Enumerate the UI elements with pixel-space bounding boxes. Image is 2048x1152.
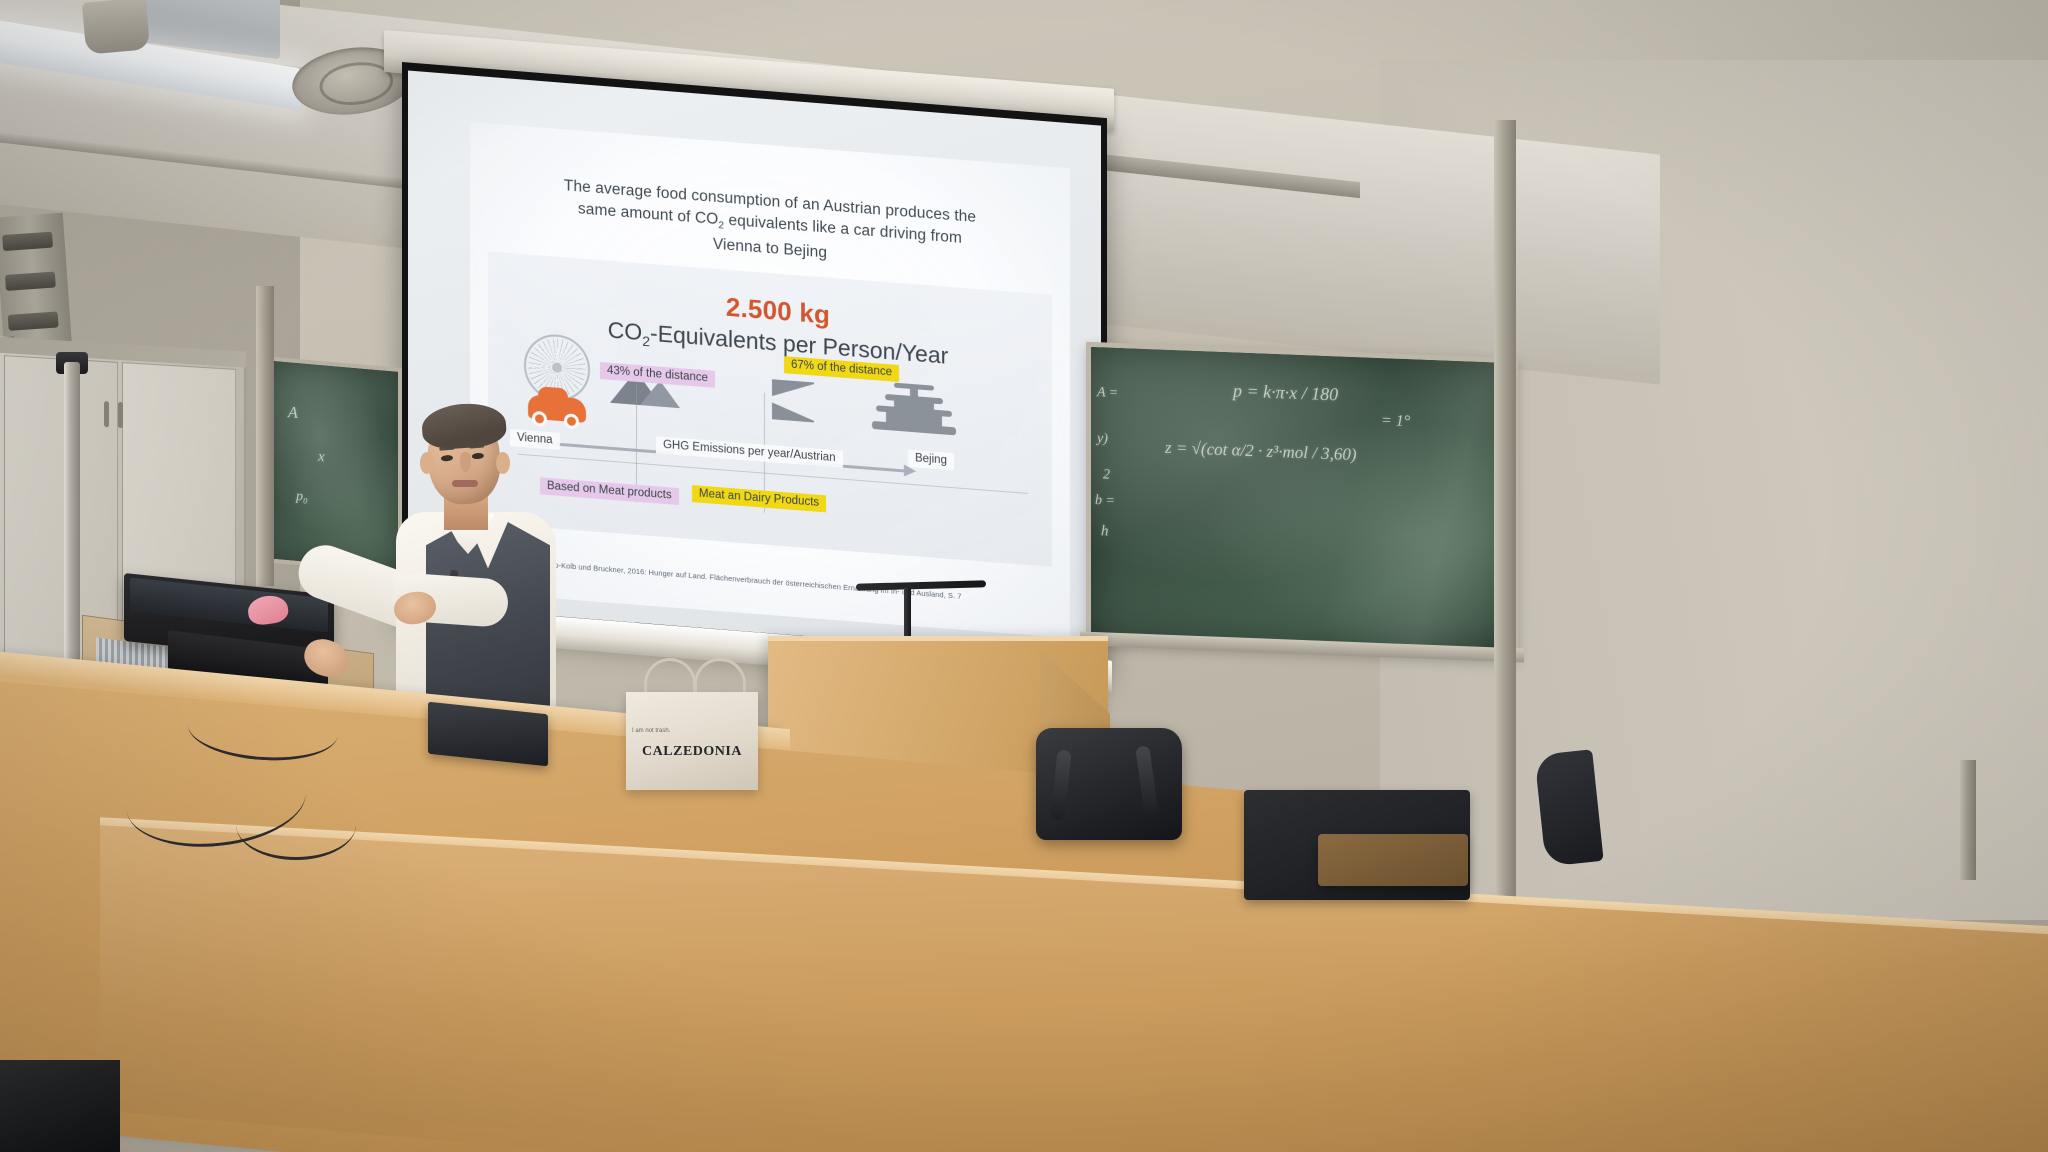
shopping-bag: I am not trash. CALZEDONIA: [626, 692, 758, 790]
blackboard-right-post: [1494, 120, 1516, 900]
chalk-note-right-5: h: [1101, 523, 1109, 540]
presenter-nose: [460, 452, 471, 472]
presenter-left-hand: [300, 635, 352, 682]
chalk-note-right-1: = 1°: [1381, 412, 1410, 431]
blackboard-left-post: [256, 286, 274, 586]
chalk-note-left-0: A: [288, 404, 298, 423]
chalk-note-right-7: 2: [1103, 467, 1110, 483]
slide-title-line3: Vienna to Bejing: [713, 236, 827, 262]
tag-ghg-emissions: GHG Emissions per year/Austrian: [656, 436, 843, 467]
chair-right[interactable]: [1534, 749, 1603, 866]
foreground-dark-object: [0, 1060, 120, 1152]
bag-note-text: I am not trash.: [632, 728, 670, 734]
ceiling-speaker: [82, 0, 150, 55]
backpack: [1036, 728, 1182, 840]
pagoda-icon: [872, 381, 956, 437]
tag-bejing: Bejing: [908, 450, 954, 471]
presenter-ear-left: [420, 452, 434, 474]
winding-road-icon: [772, 379, 814, 422]
bag-brand-label: CALZEDONIA: [626, 744, 758, 760]
lecture-hall-scene: The average food consumption of an Austr…: [0, 0, 2048, 1152]
co2-prefix: CO: [608, 317, 643, 346]
chalk-note-right-2: z = √(cot α/2 · z³·mol / 3,60): [1165, 438, 1357, 465]
tag-dairy-products: Meat an Dairy Products: [692, 485, 826, 512]
co2-subscript: 2: [642, 333, 650, 350]
chalk-note-right-4: y): [1097, 431, 1108, 447]
presenter-ear-right: [496, 452, 510, 474]
wall-edge-post: [1960, 760, 1976, 880]
chair-seat[interactable]: [1318, 834, 1468, 886]
chalk-note-right-3: A =: [1097, 385, 1118, 402]
presenter-mouth: [452, 480, 478, 487]
chalk-note-right-6: b =: [1095, 493, 1115, 510]
slide-title-line2a: same amount of CO: [578, 201, 718, 229]
blackboard-right: p = k·π·x / 180 = 1° z = √(cot α/2 · z³·…: [1086, 342, 1518, 661]
cable-3: [236, 790, 356, 860]
chalk-note-right-0: p = k·π·x / 180: [1233, 380, 1338, 405]
